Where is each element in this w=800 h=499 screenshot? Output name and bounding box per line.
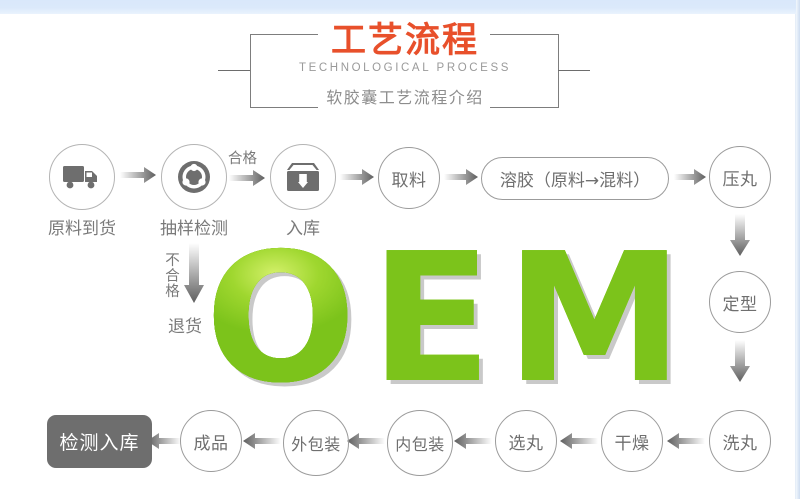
node-sample-test[interactable] xyxy=(161,144,227,210)
tag-return: 退货 xyxy=(168,312,202,337)
top-decorative-band xyxy=(0,0,800,14)
arrow-sample-to-warehouse xyxy=(229,170,265,186)
process-flow-infographic: 工艺流程 TECHNOLOGICAL PROCESS 软胶囊工艺流程介绍 OEM… xyxy=(0,0,800,499)
arrow-finished-to-final-check xyxy=(147,433,181,449)
node-raw-arrival[interactable] xyxy=(49,144,115,210)
tag-pass: 合格 xyxy=(228,147,257,168)
arrow-warehouse-to-pick xyxy=(340,169,374,185)
arrow-wash-to-dry xyxy=(667,433,705,449)
arrow-select-to-inner xyxy=(454,433,492,449)
inspection-icon xyxy=(175,158,213,196)
arrow-inner-to-outer xyxy=(347,433,385,449)
node-select-pill[interactable]: 选丸 xyxy=(495,410,557,472)
page-subtitle-cn: 软胶囊工艺流程介绍 xyxy=(240,84,570,108)
oem-watermark: OEM xyxy=(205,238,705,403)
node-shaping[interactable]: 定型 xyxy=(709,271,771,333)
right-decorative-band xyxy=(796,0,800,499)
arrow-dry-to-select xyxy=(560,433,598,449)
truck-icon xyxy=(62,163,102,191)
node-wash-pill[interactable]: 洗丸 xyxy=(709,410,771,472)
box-inbound-icon xyxy=(285,161,321,193)
arrow-raw-to-sample xyxy=(120,167,156,183)
tag-fail: 不合格 xyxy=(161,252,182,299)
node-press-pill[interactable]: 压丸 xyxy=(709,146,771,208)
arrow-outer-to-finished xyxy=(243,433,281,449)
node-finished-product[interactable]: 成品 xyxy=(180,410,242,472)
arrow-sample-to-return xyxy=(184,243,204,303)
node-warehouse-in[interactable] xyxy=(270,144,336,210)
page-subtitle-en: TECHNOLOGICAL PROCESS xyxy=(240,62,570,74)
arrow-shaping-to-wash xyxy=(730,340,750,382)
arrow-gel-to-press xyxy=(674,169,706,185)
node-outer-package[interactable]: 外包装 xyxy=(283,410,349,476)
arrow-press-to-shaping xyxy=(730,214,750,256)
node-final-check[interactable]: 检测入库 xyxy=(47,415,152,468)
label-warehouse-in: 入库 xyxy=(257,214,349,239)
node-dry[interactable]: 干燥 xyxy=(601,410,663,472)
label-raw-arrival: 原料到货 xyxy=(36,214,128,239)
label-sample-test: 抽样检测 xyxy=(148,214,240,239)
node-gel-dissolve[interactable]: 溶胶（原料→混料） xyxy=(481,157,669,200)
arrow-pick-to-gel xyxy=(444,169,478,185)
node-pick-material[interactable]: 取料 xyxy=(378,147,440,209)
node-inner-package[interactable]: 内包装 xyxy=(387,410,453,476)
right-hairline xyxy=(795,14,796,499)
page-title: 工艺流程 xyxy=(240,22,570,60)
header-block: 工艺流程 TECHNOLOGICAL PROCESS 软胶囊工艺流程介绍 xyxy=(240,22,570,114)
